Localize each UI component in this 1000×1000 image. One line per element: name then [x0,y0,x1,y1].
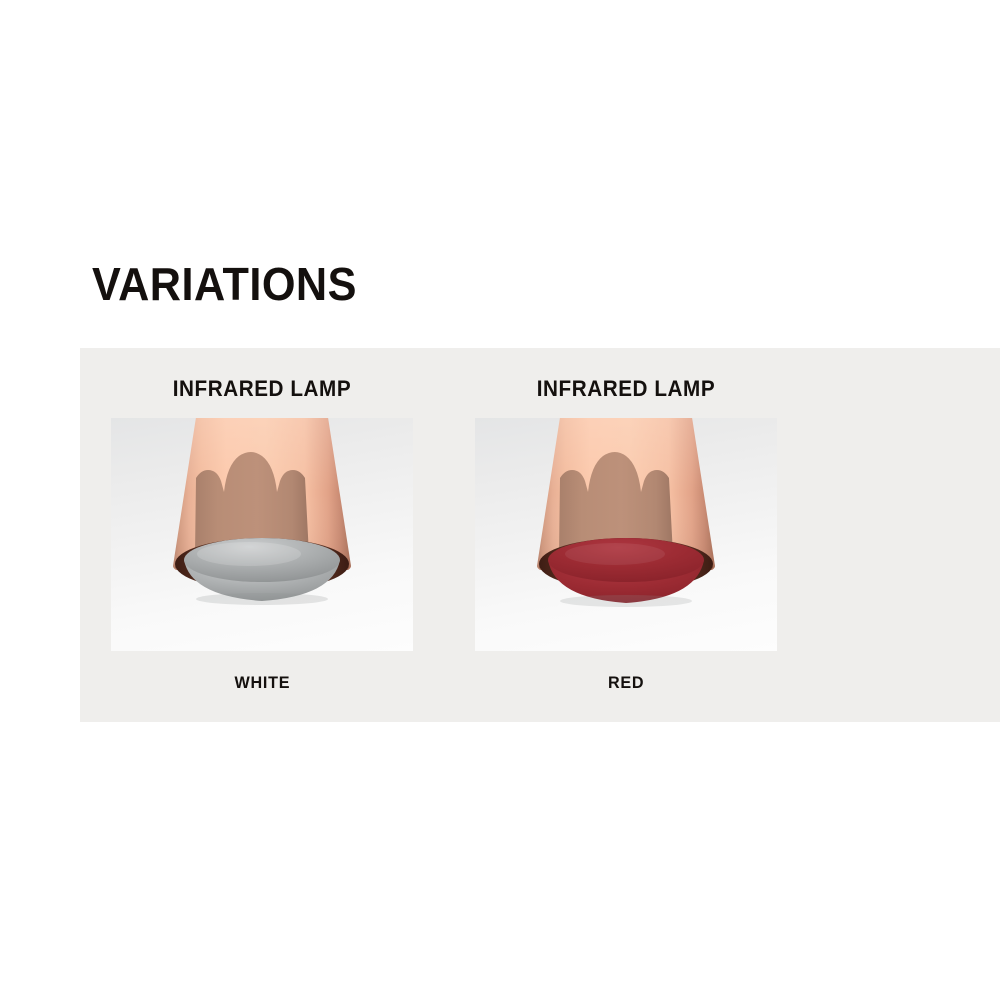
variations-panel: INFRARED LAMP [80,348,1000,722]
variation-title: INFRARED LAMP [173,376,352,402]
variation-cards-row: INFRARED LAMP [80,348,808,693]
page-title: VARIATIONS [92,256,357,312]
variation-image-tile[interactable] [475,418,777,651]
variation-caption: RED [608,673,644,693]
infrared-lamp-white-icon [111,418,413,651]
page-root: VARIATIONS INFRARED LAMP [0,0,1000,1000]
variation-card[interactable]: INFRARED LAMP [80,348,444,693]
variation-caption: WHITE [234,673,290,693]
variation-image-tile[interactable] [111,418,413,651]
variation-title: INFRARED LAMP [537,376,716,402]
infrared-lamp-red-icon [475,418,777,651]
variation-card[interactable]: INFRARED LAMP [444,348,808,693]
